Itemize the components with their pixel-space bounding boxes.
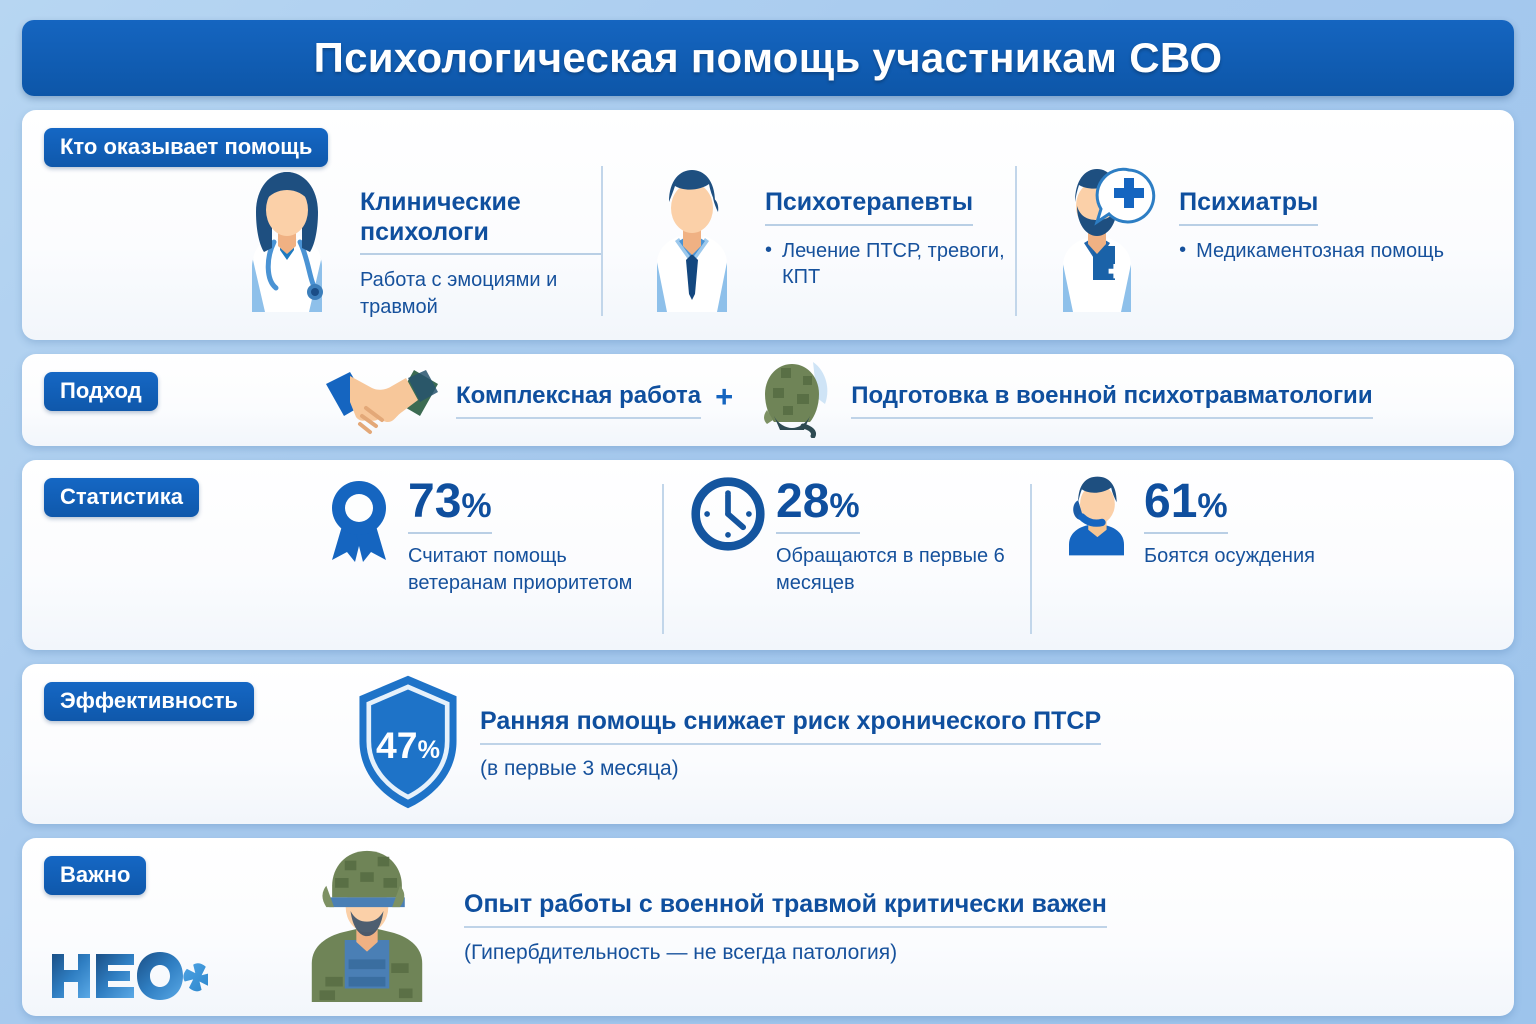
section-tag-statistics: Статистика — [44, 478, 199, 517]
stat-first-six-months: 28% Обращаются в первые 6 месяцев — [662, 476, 1030, 640]
shield-value: 47 — [376, 723, 418, 765]
approach-plus-sign: + — [715, 379, 733, 421]
provider-psychotherapists: Психотерапевты Лечение ПТСР, тревоги, КП… — [601, 162, 1015, 330]
approach-right-text: Подготовка в военной психотравматологии — [851, 382, 1372, 419]
stat-caption: Боятся осуждения — [1144, 543, 1315, 570]
provider-psychiatrists: Психиатры Медикаментозная помощь — [1015, 162, 1494, 330]
provider-bullets: Медикаментозная помощь — [1179, 238, 1444, 265]
effectiveness-main-text: Ранняя помощь снижает риск хронического … — [480, 707, 1101, 745]
female-clinical-psychologist-icon — [222, 162, 352, 312]
providers-row: Клинические психологи Работа с эмоциями … — [222, 162, 1494, 330]
provider-bullets: Лечение ПТСР, тревоги, КПТ — [765, 238, 1015, 291]
stat-value: 61% — [1144, 478, 1228, 534]
soldier-icon — [292, 847, 442, 1007]
male-psychotherapist-icon — [627, 162, 757, 312]
provider-title: Психотерапевты — [765, 188, 973, 226]
shield-icon: 47% — [352, 672, 464, 817]
provider-clinical-psychologists: Клинические психологи Работа с эмоциями … — [222, 162, 601, 330]
important-sub-text: (Гипербдительность — не всегда патология… — [464, 941, 1107, 965]
important-row: Опыт работы с военной травмой критически… — [292, 838, 1494, 1016]
section-statistics: Статистика 73% Считают помощь ветеранам … — [22, 460, 1514, 650]
section-tag-important: Важно — [44, 856, 146, 895]
effectiveness-text: Ранняя помощь снижает риск хронического … — [480, 707, 1101, 781]
section-approach: Подход Комплексная работа + — [22, 354, 1514, 446]
stat-body: 61% Боятся осуждения — [1144, 476, 1315, 570]
section-tag-effectiveness: Эффективность — [44, 682, 254, 721]
clock-icon — [690, 476, 766, 556]
military-helmet-icon — [747, 358, 837, 443]
person-headset-icon — [1058, 476, 1134, 556]
effectiveness-row: 47% Ранняя помощь снижает риск хроническ… — [352, 664, 1494, 824]
stat-priority: 73% Считают помощь ветеранам приоритетом — [302, 476, 662, 640]
stat-fear-of-judgement: 61% Боятся осуждения — [1030, 476, 1448, 640]
provider-bullet: Медикаментозная помощь — [1179, 238, 1444, 265]
page-title: Психологическая помощь участникам СВО — [314, 34, 1223, 82]
stat-caption: Обращаются в первые 6 месяцев — [776, 543, 1006, 596]
approach-left-text: Комплексная работа — [456, 382, 701, 419]
stat-body: 28% Обращаются в первые 6 месяцев — [776, 476, 1006, 596]
provider-text: Клинические психологи Работа с эмоциями … — [360, 162, 601, 320]
section-tag-approach: Подход — [44, 372, 158, 411]
section-effectiveness: Эффективность 47% Ранняя помощь снижает … — [22, 664, 1514, 824]
stat-body: 73% Считают помощь ветеранам приоритетом — [408, 476, 638, 596]
provider-bullets: Работа с эмоциями и травмой — [360, 267, 601, 320]
neo-plus-logo — [48, 948, 208, 1004]
award-ribbon-icon — [322, 476, 398, 556]
statistics-row: 73% Считают помощь ветеранам приоритетом — [302, 476, 1494, 640]
provider-title: Психиатры — [1179, 188, 1318, 226]
provider-text: Психотерапевты Лечение ПТСР, тревоги, КП… — [765, 162, 1015, 291]
infographic-page: Психологическая помощь участникам СВО Кт… — [0, 0, 1536, 1024]
important-main-text: Опыт работы с военной травмой критически… — [464, 890, 1107, 928]
provider-bullet: Лечение ПТСР, тревоги, КПТ — [765, 238, 1015, 291]
section-important: Важно — [22, 838, 1514, 1016]
bearded-psychiatrist-icon — [1041, 162, 1171, 312]
provider-text: Психиатры Медикаментозная помощь — [1179, 162, 1444, 264]
stat-value: 28% — [776, 478, 860, 534]
stat-value: 73% — [408, 478, 492, 534]
page-header: Психологическая помощь участникам СВО — [22, 20, 1514, 96]
shield-symbol: % — [418, 735, 440, 763]
effectiveness-sub-text: (в первые 3 месяца) — [480, 757, 1101, 781]
important-text: Опыт работы с военной травмой критически… — [464, 890, 1107, 965]
approach-row: Комплексная работа + Подготовка в военно… — [322, 354, 1494, 446]
section-providers: Кто оказывает помощь — [22, 110, 1514, 340]
provider-bullet: Работа с эмоциями и травмой — [360, 267, 601, 320]
provider-title: Клинические психологи — [360, 188, 601, 255]
stat-caption: Считают помощь ветеранам приоритетом — [408, 543, 638, 596]
handshake-icon — [322, 358, 442, 443]
